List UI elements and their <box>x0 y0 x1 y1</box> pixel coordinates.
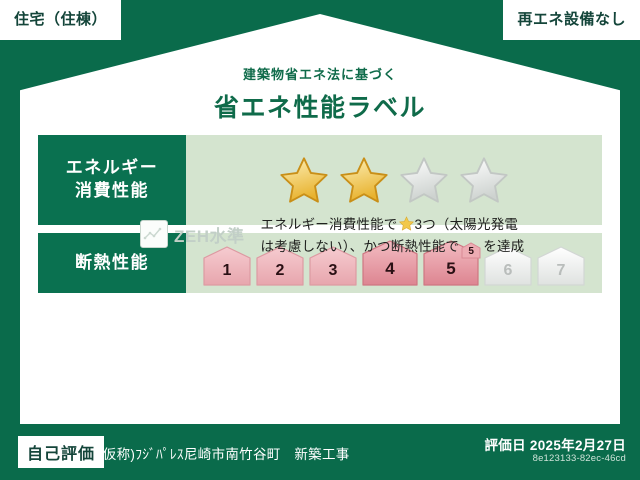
zeh-desc-star-count: 3つ（太陽光発電 <box>415 217 519 232</box>
zeh-desc-part3: を達成 <box>483 239 524 254</box>
footer: 自己評価 (仮称)ﾌｼﾞﾊﾟﾚｽ尼崎市南竹谷町 新築工事 評価日 2025年2月… <box>0 424 640 480</box>
insulation-level-value: 6 <box>504 263 513 286</box>
zeh-desc-part1: エネルギー消費性能で <box>261 217 398 232</box>
zeh-description: エネルギー消費性能で 3つ（太陽光発電 は考慮しない）、かつ断熱性能で 5 を達… <box>261 214 525 259</box>
insulation-level-value: 5 <box>446 260 455 286</box>
star-rating <box>278 155 510 205</box>
page-title: 省エネ性能ラベル <box>20 88 620 124</box>
renewable-energy-tag: 再エネ設備なし <box>503 0 640 40</box>
insulation-level-value: 3 <box>329 263 338 286</box>
insulation-level-value: 2 <box>276 263 285 286</box>
star-icon-filled <box>338 155 390 205</box>
insulation-level-value: 1 <box>223 263 232 286</box>
energy-label-line2: 消費性能 <box>75 180 149 203</box>
zeh-desc-part2: は考慮しない）、かつ断熱性能で <box>261 239 460 254</box>
insulation-label: 断熱性能 <box>75 252 149 275</box>
insulation-level-value: 4 <box>385 260 394 286</box>
title-subtitle: 建築物省エネ法に基づく <box>20 64 620 83</box>
zeh-house-icon <box>140 220 168 248</box>
energy-performance-label-cell: エネルギー 消費性能 <box>38 135 186 225</box>
inline-level-badge: 5 <box>461 242 481 259</box>
zeh-note: ZEH水準 エネルギー消費性能で 3つ（太陽光発電 は考慮しない）、かつ断熱性能… <box>140 214 600 259</box>
star-icon-filled <box>278 155 330 205</box>
energy-label-line1: エネルギー <box>66 157 159 180</box>
inline-star-icon <box>399 216 414 231</box>
zeh-label: ZEH水準 <box>174 222 245 247</box>
insulation-level-value: 7 <box>557 263 566 286</box>
house-card: 建築物省エネ法に基づく 省エネ性能ラベル エネルギー 消費性能 <box>20 14 620 424</box>
energy-performance-value-cell <box>186 135 602 225</box>
energy-performance-label: 住宅（住棟） 再エネ設備なし 建築物省エネ法に基づく 省エネ性能ラベル エネルギ… <box>0 0 640 480</box>
evaluation-id: 8e123133-82ec-46cd <box>533 453 626 464</box>
star-icon-empty <box>398 155 450 205</box>
building-type-tag: 住宅（住棟） <box>0 0 121 40</box>
evaluation-date: 評価日 2025年2月27日 <box>484 434 626 454</box>
inline-level-badge-value: 5 <box>461 242 481 262</box>
self-evaluation-badge: 自己評価 <box>18 436 104 468</box>
star-icon-empty <box>458 155 510 205</box>
zeh-mark: ZEH水準 <box>140 220 245 248</box>
title-block: 建築物省エネ法に基づく 省エネ性能ラベル <box>20 64 620 124</box>
project-name: (仮称)ﾌｼﾞﾊﾟﾚｽ尼崎市南竹谷町 新築工事 <box>98 443 350 463</box>
energy-performance-row: エネルギー 消費性能 <box>38 135 602 225</box>
